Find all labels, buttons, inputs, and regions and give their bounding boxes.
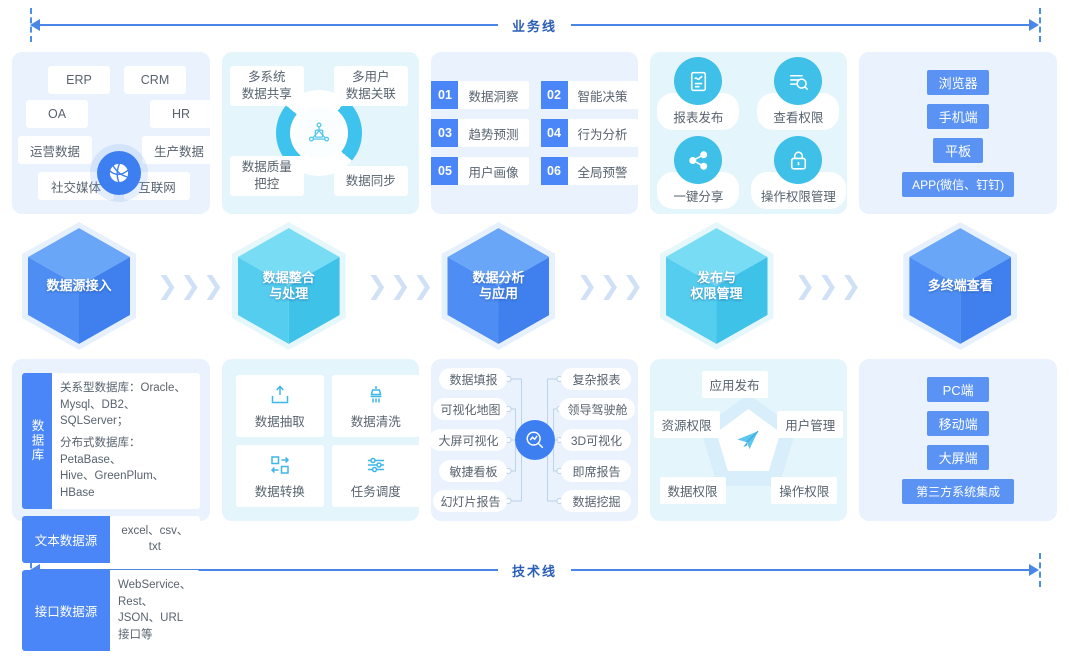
panel-analysis-capabilities: 01 数据洞察 02 智能决策 03 趋势预测 04 行为分析: [431, 52, 637, 214]
panel-terminals-bottom: PC端 移动端 大屏端 第三方系统集成: [859, 359, 1057, 521]
ico-item-operation-permission[interactable]: 操作权限管理: [750, 136, 846, 209]
chip-oa[interactable]: OA: [26, 100, 88, 128]
db-value-database: 关系型数据库：Oracle、 Mysql、DB2、SQLServer； 分布式数…: [52, 373, 200, 509]
column-data-source: ERP CRM OA HR 运营数据 生产数据 社交媒体 互联网: [12, 52, 210, 542]
bubble-line-1: 多用户: [352, 69, 390, 86]
chev-2: ❯: [599, 274, 620, 299]
pent-label-resource-permission[interactable]: 资源权限: [654, 411, 720, 438]
banner-line-right-bottom: [571, 569, 1029, 571]
db-key-database: 数据库: [22, 373, 52, 509]
database-list: 数据库 关系型数据库：Oracle、 Mysql、DB2、SQLServer； …: [22, 373, 200, 658]
db-row-api-source[interactable]: 接口数据源 WebService、Rest、 JSON、URL接口等: [22, 570, 200, 651]
mm-node-adhoc-report[interactable]: 即席报告: [561, 460, 631, 482]
tile-data-transform[interactable]: 数据转换: [236, 445, 324, 507]
chev-2: ❯: [390, 274, 411, 299]
num-item-trend-forecast[interactable]: 03 趋势预测: [431, 119, 528, 147]
sliders-schedule-icon: [364, 453, 388, 477]
panel-permission-pentagon: 应用发布 资源权限 用户管理 数据权限 操作权限: [650, 359, 848, 521]
column-multi-terminal: 浏览器 手机端 平板 APP(微信、钉钉) 多终端查看: [859, 52, 1057, 542]
num-badge: 03: [431, 119, 458, 147]
column-data-integration: 多系统 数据共享 多用户 数据关联 数据质量 把控 数据同步: [222, 52, 420, 542]
hex-label: 发布与 权限管理: [691, 270, 743, 303]
bubble-line-1: 数据质量: [242, 159, 292, 176]
globe-network-icon: [97, 151, 141, 195]
chev-2: ❯: [180, 274, 201, 299]
db-value-text-source: excel、csv、txt: [110, 516, 200, 563]
hexagon-data-source[interactable]: 数据源接入: [28, 228, 130, 344]
hex-label-line-2: 权限管理: [691, 286, 743, 301]
mm-node-data-mining[interactable]: 数据挖掘: [561, 490, 631, 512]
spacer: [650, 349, 848, 359]
chev-1: ❯: [795, 274, 816, 299]
terminal-mobile[interactable]: 手机端: [927, 104, 989, 129]
num-item-global-alert[interactable]: 06 全局预警: [541, 157, 638, 185]
bubble-line-2: 把控: [254, 176, 279, 193]
pent-label-user-management[interactable]: 用户管理: [777, 411, 843, 438]
hex-label-line-2: 与处理: [269, 286, 308, 301]
hex-label-line-1: 发布与: [697, 270, 736, 285]
panel-database-sources: 数据库 关系型数据库：Oracle、 Mysql、DB2、SQLServer； …: [12, 359, 210, 521]
arrow-left-icon: [30, 19, 40, 31]
tile-data-extract[interactable]: 数据抽取: [236, 375, 324, 437]
num-item-behavior-analysis[interactable]: 04 行为分析: [541, 119, 638, 147]
hex-label: 数据源接入: [46, 278, 111, 294]
spacer: [12, 214, 210, 224]
panel-source-systems: ERP CRM OA HR 运营数据 生产数据 社交媒体 互联网: [12, 52, 210, 214]
spacer: [431, 214, 637, 224]
hexagon-data-integration[interactable]: 数据整合 与处理: [238, 228, 340, 344]
spacer: [222, 349, 420, 359]
spacer: [859, 214, 1057, 224]
chev-3: ❯: [840, 274, 861, 299]
upload-box-icon: [268, 383, 292, 407]
hex-label-line-1: 数据整合: [263, 270, 315, 285]
brush-clean-icon: [364, 383, 388, 407]
hexagon-multi-terminal[interactable]: 多终端查看: [909, 228, 1011, 344]
terminal-browser[interactable]: 浏览器: [927, 70, 989, 95]
hexagon-data-analysis[interactable]: 数据分析 与应用: [447, 228, 549, 344]
mm-node-agile-dashboard[interactable]: 敏捷看板: [439, 460, 507, 482]
db-row-text-source[interactable]: 文本数据源 excel、csv、txt: [22, 516, 200, 563]
arrow-right-icon: [1029, 19, 1039, 31]
db-key-text-source: 文本数据源: [22, 516, 110, 563]
db-row-database[interactable]: 数据库 关系型数据库：Oracle、 Mysql、DB2、SQLServer； …: [22, 373, 200, 509]
terminal-app[interactable]: APP(微信、钉钉): [902, 172, 1014, 197]
banner-line-left: [40, 24, 498, 26]
infographic-canvas: 业务线 技术线 ERP CRM OA HR 运营数据 生产数据 社交媒体 互联网: [0, 0, 1069, 595]
terminal-bigscreen[interactable]: 大屏端: [927, 445, 989, 470]
num-badge: 05: [431, 157, 458, 185]
publish-icon-grid: 报表发布 查看权限: [650, 57, 846, 209]
db-line: Mysql、DB2、SQLServer；: [60, 397, 192, 430]
rail-right-bottom: [1039, 553, 1041, 587]
chip-operation-data[interactable]: 运营数据: [18, 136, 92, 164]
data-hub-icon: [293, 107, 345, 159]
spacer: [222, 214, 420, 224]
bottom-banner-label: 技术线: [498, 561, 571, 580]
stage-columns: ERP CRM OA HR 运营数据 生产数据 社交媒体 互联网: [12, 52, 1057, 542]
panel-terminals-top: 浏览器 手机端 平板 APP(微信、钉钉): [859, 52, 1057, 214]
pent-label-operation-permission[interactable]: 操作权限: [771, 477, 837, 504]
chev-1: ❯: [367, 274, 388, 299]
chevron-right-icon-2: ❯ ❯ ❯: [367, 274, 434, 299]
hex-slot-4: 发布与 权限管理 ❯ ❯ ❯: [650, 224, 848, 349]
mm-node-visual-map[interactable]: 可视化地图: [433, 398, 507, 420]
ico-item-one-click-share[interactable]: 一键分享: [650, 136, 746, 209]
bubble-line-2: 数据共享: [242, 86, 292, 103]
spacer: [859, 349, 1057, 359]
mm-node-complex-report[interactable]: 复杂报表: [561, 368, 631, 390]
num-badge: 04: [541, 119, 568, 147]
tile-label: 数据清洗: [351, 411, 401, 430]
hex-label: 多终端查看: [928, 278, 993, 294]
top-banner: 业务线: [30, 8, 1039, 42]
hex-label: 数据分析 与应用: [472, 270, 524, 303]
chevron-right-icon-1: ❯ ❯ ❯: [157, 274, 224, 299]
num-badge: 01: [431, 81, 458, 109]
db-line: JSON、URL接口等: [118, 610, 192, 643]
chev-3: ❯: [622, 274, 643, 299]
spacer: [650, 214, 848, 224]
terminal-pc[interactable]: PC端: [927, 377, 989, 402]
chev-2: ❯: [817, 274, 838, 299]
terminal-mobile-bottom[interactable]: 移动端: [927, 411, 989, 436]
chip-crm[interactable]: CRM: [124, 66, 186, 94]
num-label: 全局预警: [568, 157, 638, 185]
hex-slot-1: 数据源接入 ❯ ❯ ❯: [12, 224, 210, 349]
tile-data-clean[interactable]: 数据清洗: [332, 375, 420, 437]
chip-erp[interactable]: ERP: [48, 66, 110, 94]
mm-node-exec-cockpit[interactable]: 领导驾驶舱: [559, 398, 635, 420]
bubble-multi-system-share[interactable]: 多系统 数据共享: [230, 66, 304, 106]
num-badge: 02: [541, 81, 568, 109]
chev-3: ❯: [203, 274, 224, 299]
pent-label-data-permission[interactable]: 数据权限: [660, 477, 726, 504]
chev-1: ❯: [157, 274, 178, 299]
mm-node-bigscreen-visual[interactable]: 大屏可视化: [429, 429, 507, 451]
chip-production-data[interactable]: 生产数据: [142, 136, 216, 164]
banner-line-right: [571, 24, 1029, 26]
num-label: 用户画像: [458, 157, 528, 185]
mm-node-data-entry[interactable]: 数据填报: [439, 368, 507, 390]
arrow-right-icon-bottom: [1029, 564, 1039, 576]
num-label: 趋势预测: [458, 119, 528, 147]
etl-tile-grid: 数据抽取 数据清洗: [236, 375, 420, 507]
chev-3: ❯: [413, 274, 434, 299]
num-label: 智能决策: [568, 81, 638, 109]
chev-1: ❯: [576, 274, 597, 299]
pent-label-app-publish[interactable]: 应用发布: [702, 371, 768, 398]
panel-integration-features: 多系统 数据共享 多用户 数据关联 数据质量 把控 数据同步: [222, 52, 420, 214]
hex-label-line-1: 数据分析: [472, 270, 524, 285]
pentagon-diagram: 应用发布 资源权限 用户管理 数据权限 操作权限: [650, 359, 848, 521]
mindmap: 数据填报 可视化地图 大屏可视化 敏捷看板 幻灯片报告 复杂报表 领导驾驶舱 3…: [431, 359, 637, 521]
bubble-line-2: 数据关联: [346, 86, 396, 103]
panel-etl-tiles: 数据抽取 数据清洗: [222, 359, 420, 521]
num-label: 行为分析: [568, 119, 638, 147]
terminal-tablet[interactable]: 平板: [933, 138, 983, 163]
spacer: [12, 349, 210, 359]
mm-node-3d-visual[interactable]: 3D可视化: [561, 429, 631, 451]
tile-label: 数据抽取: [255, 411, 305, 430]
num-item-smart-decision[interactable]: 02 智能决策: [541, 81, 638, 109]
bubble-line-1: 数据同步: [346, 173, 396, 190]
column-publish-permission: 报表发布 查看权限: [650, 52, 848, 542]
bubble-data-quality[interactable]: 数据质量 把控: [230, 156, 304, 196]
numbered-capability-grid: 01 数据洞察 02 智能决策 03 趋势预测 04 行为分析: [431, 81, 637, 185]
db-line: 分布式数据库：PetaBase、: [60, 435, 192, 468]
hex-slot-5: 多终端查看: [859, 224, 1057, 349]
num-item-user-profile[interactable]: 05 用户画像: [431, 157, 528, 185]
analytics-search-icon: [515, 420, 555, 460]
chevron-right-icon-3: ❯ ❯ ❯: [576, 274, 643, 299]
mm-node-slide-report[interactable]: 幻灯片报告: [433, 490, 507, 512]
ico-item-view-permission[interactable]: 查看权限: [750, 57, 846, 130]
transform-shapes-icon: [268, 453, 292, 477]
panel-analysis-mindmap: 数据填报 可视化地图 大屏可视化 敏捷看板 幻灯片报告 复杂报表 领导驾驶舱 3…: [431, 359, 637, 521]
db-line: 关系型数据库：Oracle、: [60, 380, 192, 397]
panel-publish-features: 报表发布 查看权限: [650, 52, 848, 214]
db-line: Hive、GreenPlum、HBase: [60, 468, 192, 501]
num-badge: 06: [541, 157, 568, 185]
hex-label-line-2: 与应用: [479, 286, 518, 301]
num-label: 数据洞察: [458, 81, 528, 109]
num-item-insight[interactable]: 01 数据洞察: [431, 81, 528, 109]
rail-right-top: [1039, 8, 1041, 42]
tile-task-schedule[interactable]: 任务调度: [332, 445, 420, 507]
db-line: WebService、Rest、: [118, 577, 192, 610]
tile-label: 任务调度: [351, 481, 401, 500]
hexagon-publish-permission[interactable]: 发布与 权限管理: [666, 228, 768, 344]
hex-label: 数据整合 与处理: [263, 270, 315, 303]
ico-item-report-publish[interactable]: 报表发布: [650, 57, 746, 130]
plane-glyph: [733, 425, 763, 455]
hex-slot-2: 数据整合 与处理 ❯ ❯ ❯: [222, 224, 420, 349]
db-key-api-source: 接口数据源: [22, 570, 110, 651]
tile-label: 数据转换: [255, 481, 305, 500]
column-data-analysis: 01 数据洞察 02 智能决策 03 趋势预测 04 行为分析: [431, 52, 637, 542]
db-value-api-source: WebService、Rest、 JSON、URL接口等: [110, 570, 200, 651]
bubble-line-1: 多系统: [248, 69, 286, 86]
spacer: [431, 349, 637, 359]
top-banner-label: 业务线: [498, 16, 571, 35]
bubble-multi-user-relation[interactable]: 多用户 数据关联: [334, 66, 408, 106]
terminal-third-party[interactable]: 第三方系统集成: [902, 479, 1014, 504]
chip-hr[interactable]: HR: [150, 100, 212, 128]
bubble-data-sync[interactable]: 数据同步: [334, 166, 408, 196]
hex-slot-3: 数据分析 与应用 ❯ ❯ ❯: [431, 224, 637, 349]
chevron-right-icon-4: ❯ ❯ ❯: [795, 274, 862, 299]
